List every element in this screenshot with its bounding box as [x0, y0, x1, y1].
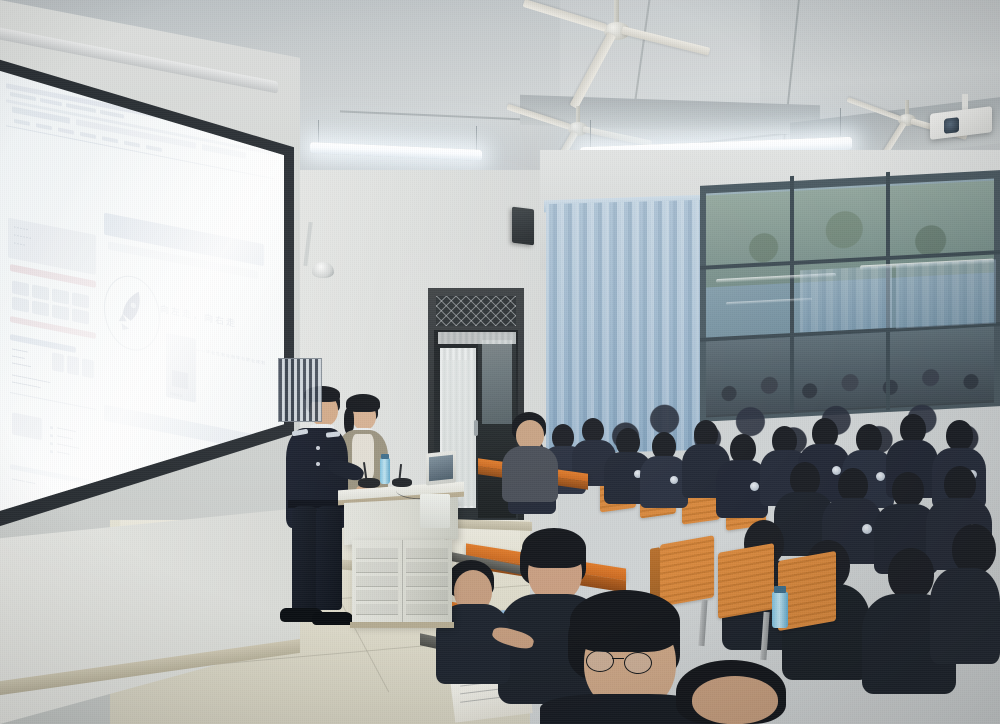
- diamond-grille-transom: [436, 296, 516, 326]
- water-bottle: [772, 592, 788, 628]
- water-bottle: [380, 458, 390, 484]
- rocket-icon: [112, 282, 152, 344]
- slide-subtitle: ——毕业生就业指导与职业规划: [196, 347, 266, 367]
- slide-title: 向左走，向右走: [160, 302, 237, 330]
- projection-screen: ● ● ● ● ● ● ● ● ● ● ● ● ● ● ● ▬▬▬▬▬ ▬▬▬▬…: [0, 58, 294, 528]
- eyeglasses: [586, 650, 614, 672]
- wall-speaker: [512, 207, 534, 246]
- wall-cabinet: [278, 358, 322, 422]
- classroom-photo: ● ● ● ● ● ● ● ● ● ● ● ● ● ● ● ▬▬▬▬▬ ▬▬▬▬…: [0, 0, 1000, 724]
- floor-cabinet: [420, 494, 450, 528]
